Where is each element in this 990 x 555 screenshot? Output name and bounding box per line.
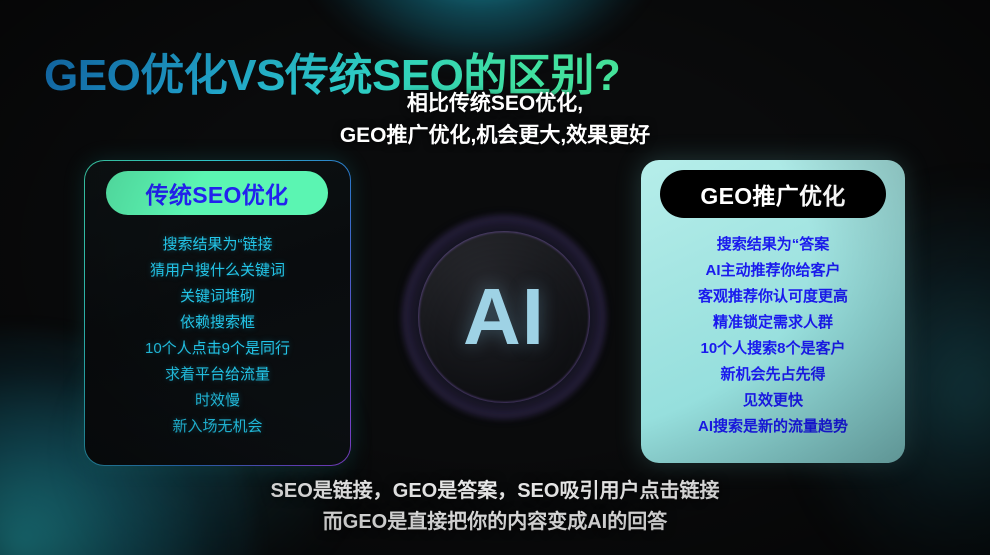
ai-sphere-body: AI <box>418 231 590 403</box>
badge-traditional-seo: 传统SEO优化 <box>106 171 328 215</box>
ai-sphere: AI <box>418 231 590 403</box>
list-geo-promotion: 搜索结果为“答案 AI主动推荐你给客户 客观推荐你认可度更高 精准锁定需求人群 … <box>641 237 905 445</box>
subtitle-line-1: 相比传统SEO优化, <box>0 88 990 120</box>
footer-line-1: SEO是链接，GEO是答案，SEO吸引用户点击链接 <box>0 476 990 507</box>
list-item: 求着平台给流量 <box>84 367 351 382</box>
list-item: AI搜索是新的流量趋势 <box>641 419 905 434</box>
list-item: 时效慢 <box>84 393 351 408</box>
list-item: AI主动推荐你给客户 <box>641 263 905 278</box>
list-item: 搜索结果为“链接 <box>84 237 351 252</box>
list-item: 见效更快 <box>641 393 905 408</box>
footer-line-2: 而GEO是直接把你的内容变成AI的回答 <box>0 507 990 538</box>
list-item: 客观推荐你认可度更高 <box>641 289 905 304</box>
list-item: 精准锁定需求人群 <box>641 315 905 330</box>
badge-geo-promotion: GEO推广优化 <box>660 170 886 218</box>
list-item: 新入场无机会 <box>84 419 351 434</box>
footer-summary: SEO是链接，GEO是答案，SEO吸引用户点击链接 而GEO是直接把你的内容变成… <box>0 476 990 538</box>
subtitle-line-2: GEO推广优化,机会更大,效果更好 <box>0 120 990 152</box>
list-item: 新机会先占先得 <box>641 367 905 382</box>
ai-label: AI <box>463 277 545 357</box>
subtitle: 相比传统SEO优化, GEO推广优化,机会更大,效果更好 <box>0 88 990 151</box>
list-item: 10个人点击9个是同行 <box>84 341 351 356</box>
list-item: 猜用户搜什么关键词 <box>84 263 351 278</box>
list-item: 关键词堆砌 <box>84 289 351 304</box>
list-item: 搜索结果为“答案 <box>641 237 905 252</box>
list-item: 10个人搜索8个是客户 <box>641 341 905 356</box>
list-traditional-seo: 搜索结果为“链接 猜用户搜什么关键词 关键词堆砌 依赖搜索框 10个人点击9个是… <box>84 237 351 445</box>
list-item: 依赖搜索框 <box>84 315 351 330</box>
slide-canvas: GEO优化VS传统SEO的区别? 相比传统SEO优化, GEO推广优化,机会更大… <box>0 0 990 555</box>
